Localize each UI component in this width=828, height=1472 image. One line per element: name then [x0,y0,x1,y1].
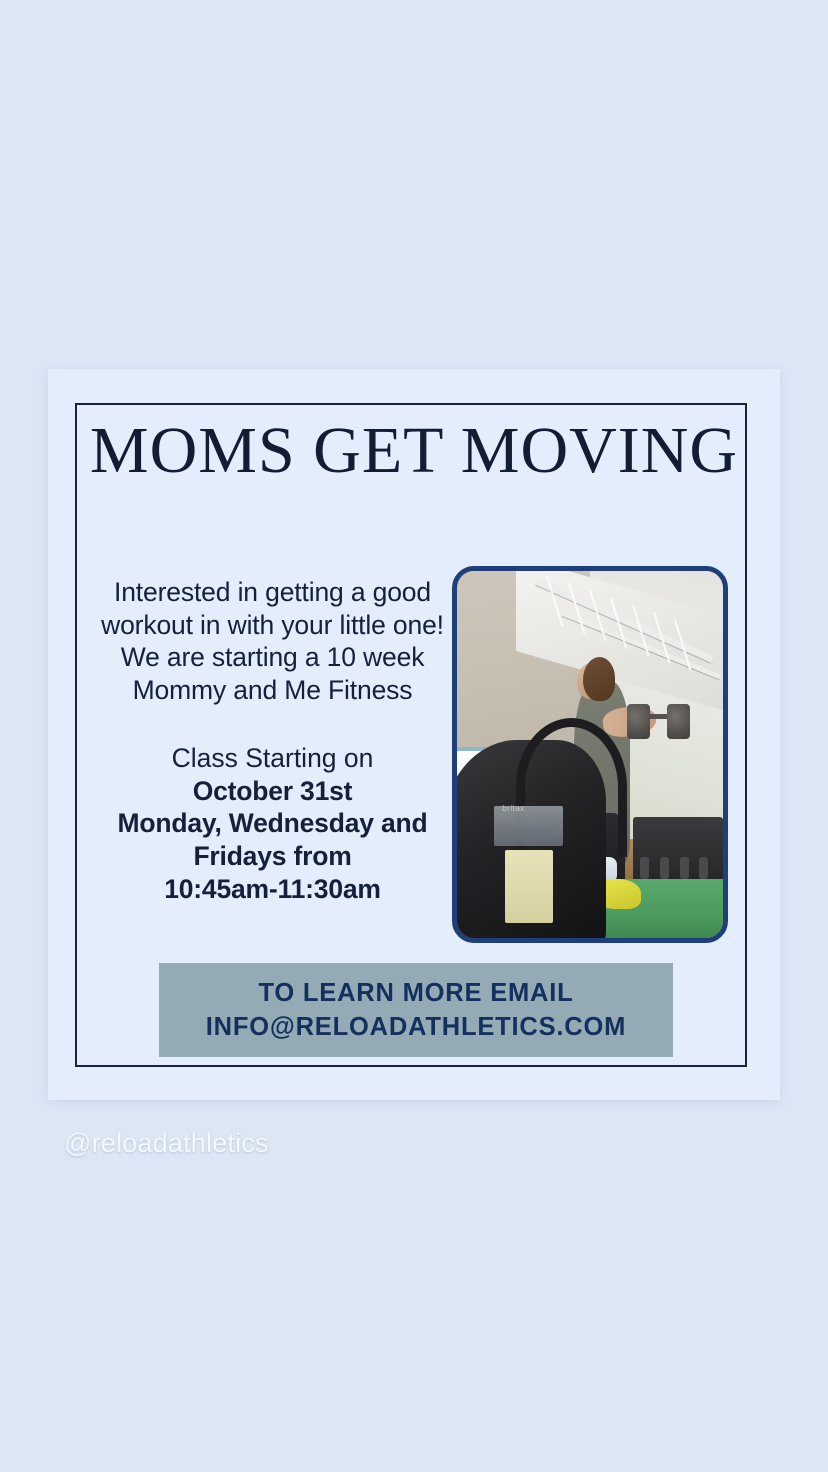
instagram-handle: @reloadathletics [64,1128,269,1159]
rack-dumbbell [699,857,708,879]
cta-line-2: INFO@RELOADATHLETICS.COM [206,1010,626,1044]
flyer-card: MOMS GET MOVING Interested in getting a … [48,369,780,1100]
flyer-text-column: Interested in getting a good workout in … [100,576,445,906]
rack-dumbbell [640,857,649,879]
athlete-hair [583,657,615,701]
schedule-lead: Class Starting on [100,743,445,775]
car-seat-brand-text: britax [502,804,525,813]
schedule-date: October 31st [100,775,445,808]
photo-scene: britax [457,571,723,938]
page-title: MOMS GET MOVING [48,419,780,482]
schedule-block: Class Starting on October 31st Monday, W… [100,743,445,906]
rack-dumbbell [680,857,689,879]
schedule-time: 10:45am-11:30am [100,873,445,906]
dumbbell-head [627,704,650,739]
intro-paragraph: Interested in getting a good workout in … [100,576,445,707]
workout-photo: britax [452,566,728,943]
cta-line-1: TO LEARN MORE EMAIL [258,976,573,1010]
rack-dumbbell [660,857,669,879]
dumbbell-head [667,704,690,739]
schedule-days: Monday, Wednesday and Fridays from [100,807,445,872]
cta-banner[interactable]: TO LEARN MORE EMAIL INFO@RELOADATHLETICS… [159,963,673,1057]
car-seat-warning-label [505,850,553,923]
